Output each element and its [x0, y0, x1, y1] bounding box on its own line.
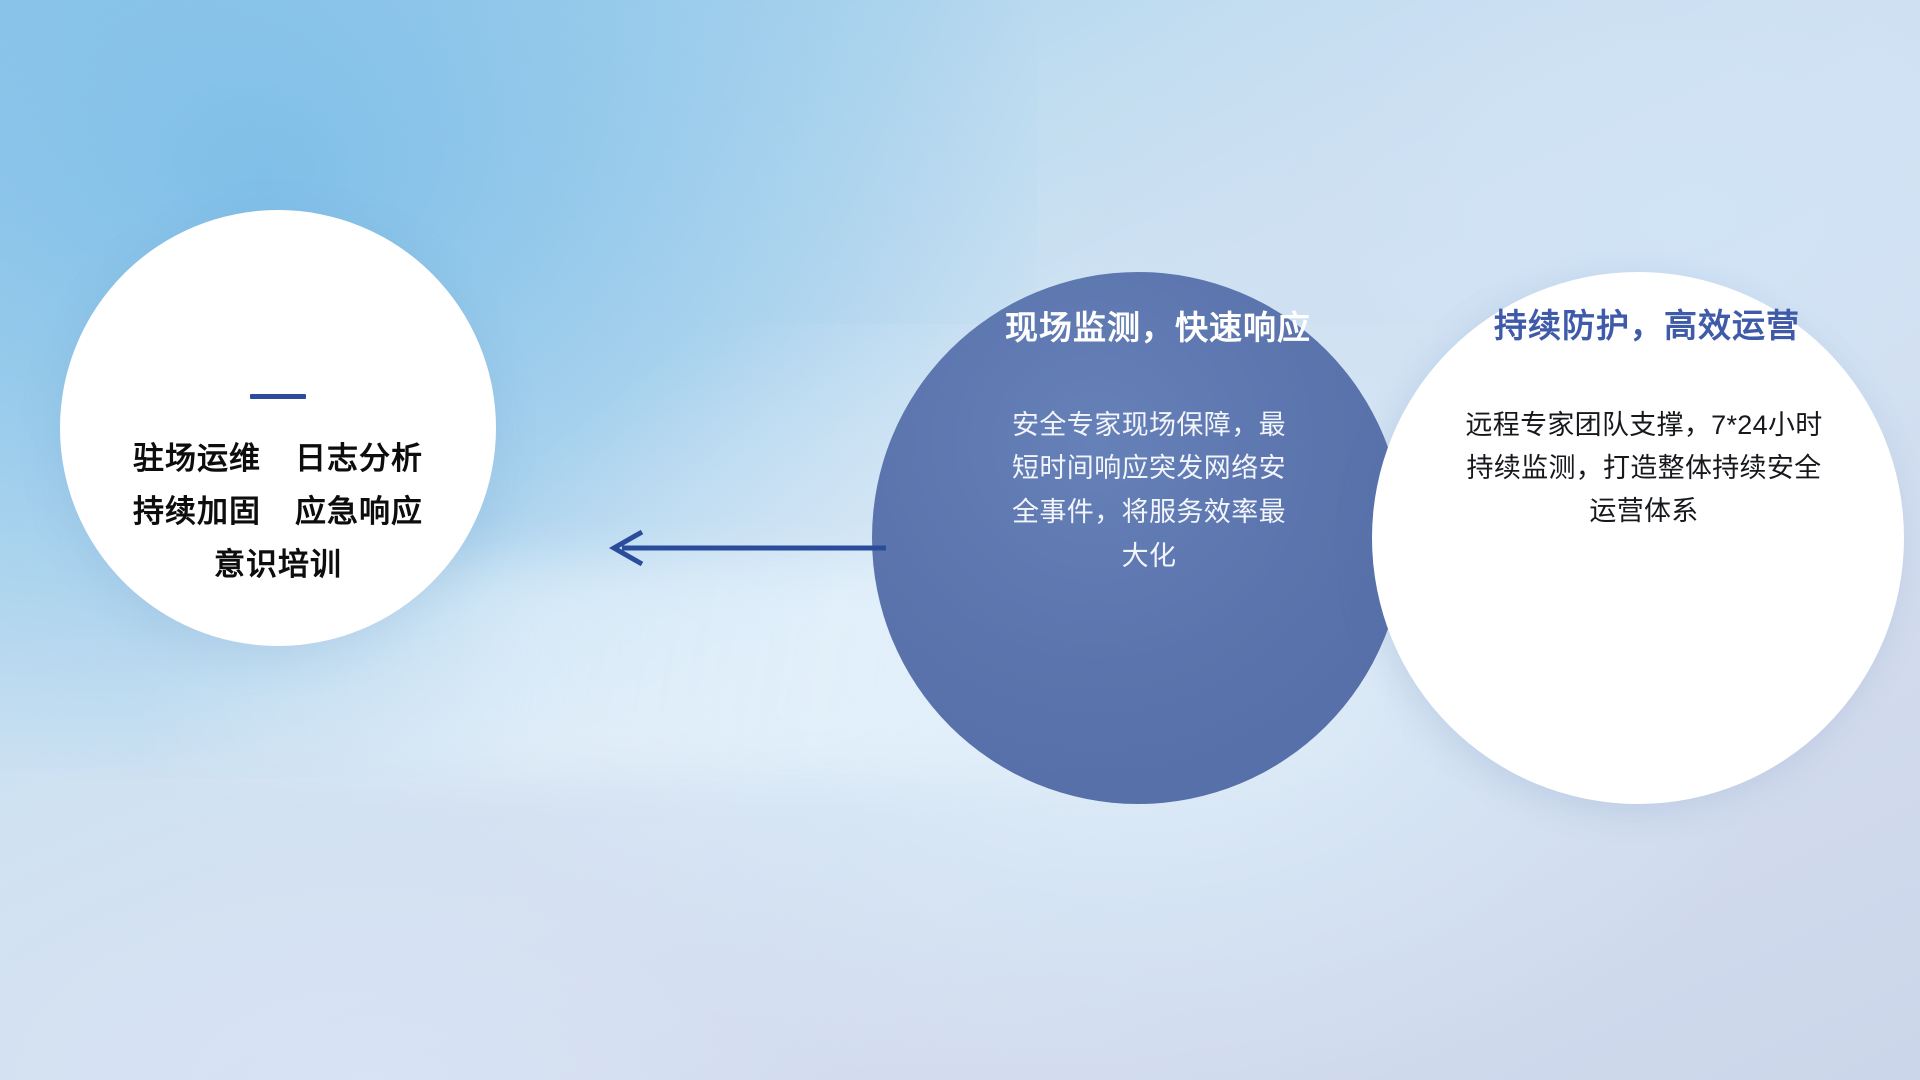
- middle-circle-content: 现场监测，快速响应 安全专家现场保障，最短时间响应突发网络安全事件，将服务效率最…: [872, 272, 1404, 804]
- capability-list: 驻场运维 日志分析 持续加固 应急响应 意识培训: [133, 443, 423, 580]
- capability-row: 驻场运维 日志分析: [133, 443, 423, 474]
- left-circle-content: 驻场运维 日志分析 持续加固 应急响应 意识培训: [60, 210, 496, 646]
- capability-row: 持续加固 应急响应: [133, 496, 423, 527]
- right-circle-title: 持续防护，高效运营: [1403, 306, 1873, 346]
- horizontal-dash-accent-icon: [250, 394, 306, 399]
- right-circle-content: 持续防护，高效运营 远程专家团队支撑，7*24小时持续监测，打造整体持续安全运营…: [1372, 272, 1904, 804]
- capability-item: 意识培训: [214, 549, 342, 580]
- capability-row: 意识培训: [214, 549, 342, 580]
- background-glow-bottom-left: [0, 756, 960, 1080]
- right-circle-description: 远程专家团队支撑，7*24小时持续监测，打造整体持续安全运营体系: [1443, 404, 1833, 534]
- middle-circle-description: 安全专家现场保障，最短时间响应突发网络安全事件，将服务效率最大化: [988, 404, 1288, 579]
- middle-circle-title: 现场监测，快速响应: [928, 308, 1348, 348]
- capability-item: 持续加固: [133, 496, 261, 527]
- left-arrow-icon: [590, 518, 890, 578]
- capability-item: 日志分析: [295, 443, 423, 474]
- capability-item: 应急响应: [295, 496, 423, 527]
- capability-item: 驻场运维: [133, 443, 261, 474]
